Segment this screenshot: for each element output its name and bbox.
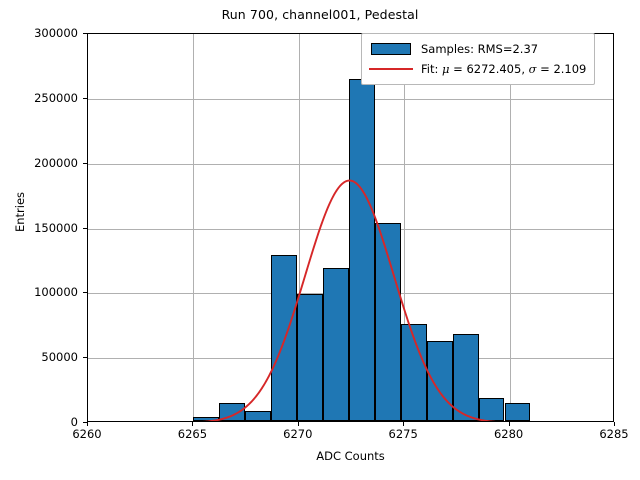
legend-label-fit: Fit: μ = 6272.405, σ = 2.109: [421, 62, 586, 76]
y-tick-mark: [83, 422, 87, 423]
y-tick-mark: [83, 98, 87, 99]
y-tick-label: 250000: [8, 91, 78, 105]
figure-canvas: Run 700, channel001, Pedestal 6260626562…: [0, 0, 640, 480]
x-tick-mark: [614, 422, 615, 426]
y-tick-label: 0: [8, 415, 78, 429]
plot-area: [87, 33, 614, 422]
x-tick-mark: [403, 422, 404, 426]
y-tick-label: 300000: [8, 26, 78, 40]
chart-legend: Samples: RMS=2.37 Fit: μ = 6272.405, σ =…: [361, 33, 595, 85]
legend-fit-mu-symbol: μ: [442, 62, 449, 76]
x-tick-mark: [509, 422, 510, 426]
fit-curve: [88, 34, 614, 422]
y-axis-label: Entries: [13, 172, 27, 252]
x-tick-label: 6285: [584, 427, 640, 441]
y-tick-label: 100000: [8, 285, 78, 299]
legend-fit-sigma-symbol: σ: [529, 62, 537, 76]
y-tick-mark: [83, 357, 87, 358]
x-tick-label: 6260: [57, 427, 117, 441]
legend-fit-mu-value: = 6272.405,: [450, 62, 529, 76]
x-tick-mark: [87, 422, 88, 426]
x-tick-label: 6270: [268, 427, 328, 441]
legend-label-samples: Samples: RMS=2.37: [421, 42, 538, 56]
legend-swatch-line-icon: [369, 62, 413, 76]
legend-fit-prefix: Fit:: [421, 62, 442, 76]
x-tick-label: 6275: [373, 427, 433, 441]
y-tick-mark: [83, 228, 87, 229]
y-tick-label: 200000: [8, 156, 78, 170]
x-tick-mark: [192, 422, 193, 426]
x-tick-mark: [298, 422, 299, 426]
x-tick-label: 6265: [162, 427, 222, 441]
x-tick-label: 6280: [479, 427, 539, 441]
y-tick-label: 50000: [8, 350, 78, 364]
chart-title: Run 700, channel001, Pedestal: [0, 7, 640, 22]
y-tick-mark: [83, 33, 87, 34]
legend-fit-sigma-value: = 2.109: [537, 62, 587, 76]
y-tick-mark: [83, 163, 87, 164]
legend-swatch-bar-icon: [369, 42, 413, 56]
y-tick-mark: [83, 292, 87, 293]
x-axis-label: ADC Counts: [87, 449, 614, 463]
legend-entry-samples: Samples: RMS=2.37: [369, 39, 586, 59]
legend-entry-fit: Fit: μ = 6272.405, σ = 2.109: [369, 59, 586, 79]
